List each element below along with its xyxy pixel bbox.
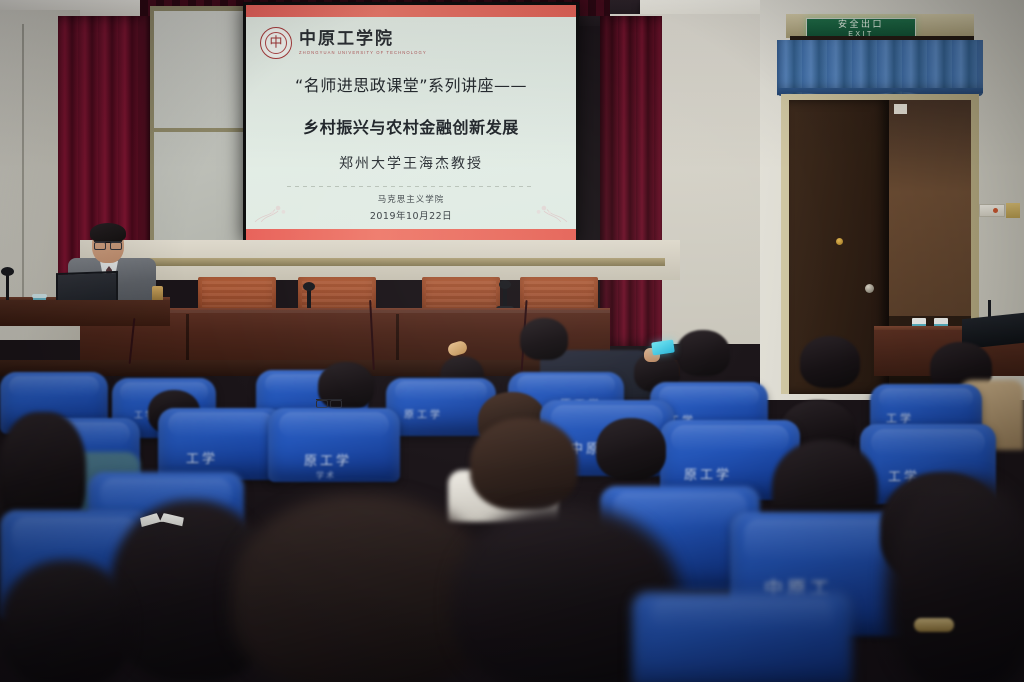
logo-text: 中原工学院 ZHONGYUAN UNIVERSITY OF TECHNOLOGY <box>299 31 427 55</box>
door-knob[interactable] <box>865 284 874 293</box>
logo-english-name: ZHONGYUAN UNIVERSITY OF TECHNOLOGY <box>299 51 427 55</box>
door-valance-curtain <box>777 40 983 96</box>
audience-head <box>470 418 578 510</box>
presentation-slide: 中 中原工学院 ZHONGYUAN UNIVERSITY OF TECHNOLO… <box>246 5 576 241</box>
smartphone[interactable] <box>651 340 675 356</box>
wall-outlet-plate[interactable] <box>1006 203 1020 218</box>
dais-panel-seam <box>396 314 399 362</box>
switch-indicator-icon <box>993 208 998 213</box>
auditorium-seat[interactable] <box>632 592 852 682</box>
chair-logo-text: 原工学 <box>404 406 443 421</box>
corridor-baseboard <box>889 316 971 326</box>
slide-subject: 乡村振兴与农村金融创新发展 <box>260 114 562 138</box>
corridor-beyond-door <box>889 100 971 330</box>
microphone-icon <box>307 288 311 310</box>
chair-logo-text: 工学 <box>186 448 218 467</box>
wall-seam <box>22 24 24 324</box>
curtain-maroon-right <box>600 16 662 346</box>
dais-chair[interactable] <box>422 277 500 311</box>
speaker-glasses-icon <box>94 241 122 249</box>
microphone-icon <box>503 286 507 308</box>
slide-speaker: 郑州大学王海杰教授 <box>260 153 562 173</box>
slide-divider <box>287 186 535 187</box>
audience-glasses-icon <box>316 399 342 408</box>
floral-ornament-icon <box>524 191 570 225</box>
dais-chair[interactable] <box>520 277 598 311</box>
wall-switch-plate[interactable] <box>979 204 1005 217</box>
podium-cup-lid <box>32 294 47 298</box>
chair-logo-text: 原工学 <box>304 450 352 469</box>
seal-glyph: 中 <box>261 37 291 50</box>
hair-clip <box>914 618 954 632</box>
auditorium-seat[interactable]: 工学 <box>158 408 284 480</box>
corridor-notice-paper <box>894 104 907 114</box>
slide-logo: 中 中原工学院 ZHONGYUAN UNIVERSITY OF TECHNOLO… <box>260 27 562 59</box>
speaker-hair <box>90 223 126 243</box>
audience-head <box>800 336 860 388</box>
exit-sign-chinese: 安全出口 <box>838 21 884 30</box>
university-seal-icon: 中 <box>260 27 292 59</box>
slide-organizer: 马克思主义学院 <box>260 193 562 205</box>
projection-screen: 中 中原工学院 ZHONGYUAN UNIVERSITY OF TECHNOLO… <box>243 2 579 244</box>
audience-head <box>520 318 568 360</box>
floral-ornament-icon <box>252 191 298 225</box>
chair-logo-subtext: 学术 <box>316 470 336 481</box>
audience-head <box>676 330 730 376</box>
slide-body: 中 中原工学院 ZHONGYUAN UNIVERSITY OF TECHNOLO… <box>246 17 576 229</box>
slide-accent-bar-top <box>246 5 576 17</box>
podium-microphone-icon <box>6 272 9 302</box>
slide-series-title: “名师进思政课堂”系列讲座—— <box>260 72 562 96</box>
logo-chinese-name: 中原工学院 <box>299 31 427 48</box>
door-peephole-icon <box>836 238 843 245</box>
audience-head <box>596 418 666 480</box>
auditorium-seat[interactable]: 原工学 学术 <box>268 408 400 482</box>
audience-head-foreground <box>886 478 1024 682</box>
dais-chair[interactable] <box>198 277 276 311</box>
lecture-hall-photo: 中 中原工学院 ZHONGYUAN UNIVERSITY OF TECHNOLO… <box>0 0 1024 682</box>
slide-date: 2019年10月22日 <box>260 208 562 222</box>
speaker-desk <box>0 300 170 326</box>
stage-wall-rail <box>80 258 665 266</box>
audience-head-foreground <box>0 560 132 682</box>
whiteboard-mullion <box>154 128 256 132</box>
dais-panel-seam <box>186 314 189 362</box>
chair-logo-text: 原工学 <box>684 464 732 483</box>
